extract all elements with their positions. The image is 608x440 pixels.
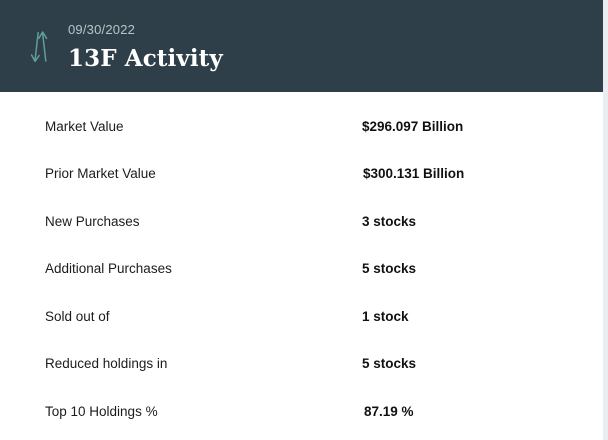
stat-label: Market Value — [45, 118, 124, 136]
stat-label: Prior Market Value — [45, 165, 156, 183]
page-background-gutter — [603, 0, 608, 440]
stat-value: 5 stocks — [362, 355, 416, 373]
stat-row-additional-purchases: Additional Purchases 5 stocks — [0, 246, 603, 294]
stat-label: Additional Purchases — [45, 260, 172, 278]
stat-row-top-10-holdings-pct: Top 10 Holdings % 87.19 % — [0, 388, 603, 436]
stat-value: $300.131 Billion — [363, 165, 464, 183]
stat-row-new-purchases: New Purchases 3 stocks — [0, 198, 603, 246]
stat-label: Reduced holdings in — [45, 355, 167, 373]
stat-row-sold-out-of: Sold out of 1 stock — [0, 293, 603, 341]
stat-label: Top 10 Holdings % — [45, 403, 158, 421]
stat-value: 87.19 % — [364, 403, 414, 421]
page-title: 13F Activity — [68, 46, 223, 72]
report-date: 09/30/2022 — [68, 22, 223, 38]
stat-row-prior-market-value: Prior Market Value $300.131 Billion — [0, 151, 603, 199]
stat-row-market-value: Market Value $296.097 Billion — [0, 103, 603, 151]
header-text-block: 09/30/2022 13F Activity — [68, 20, 223, 72]
stats-list: Market Value $296.097 Billion Prior Mark… — [0, 103, 603, 436]
up-down-arrow-icon — [28, 27, 54, 67]
card-header-content: 09/30/2022 13F Activity — [28, 0, 603, 92]
stat-value: 1 stock — [362, 308, 409, 326]
13f-activity-card: 09/30/2022 13F Activity Market Value $29… — [0, 0, 603, 440]
stat-label: Sold out of — [45, 308, 110, 326]
stat-label: New Purchases — [45, 213, 140, 231]
stat-value: 5 stocks — [362, 260, 416, 278]
stat-value: 3 stocks — [362, 213, 416, 231]
stat-value: $296.097 Billion — [362, 118, 463, 136]
card-header: 09/30/2022 13F Activity — [0, 0, 603, 92]
stat-row-reduced-holdings-in: Reduced holdings in 5 stocks — [0, 341, 603, 389]
